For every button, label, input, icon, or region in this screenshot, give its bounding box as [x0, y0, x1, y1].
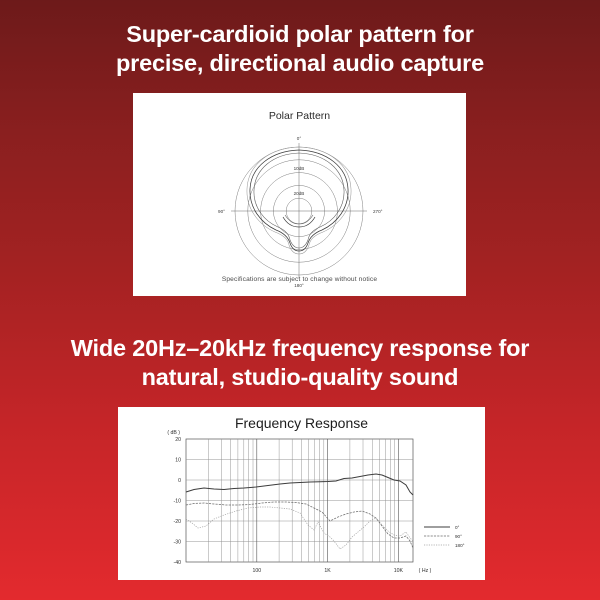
freq-legend-label-90deg: 90° [455, 534, 462, 539]
freq-chart-title: Frequency Response [118, 415, 485, 431]
headline-frequency-response: Wide 20Hz–20kHz frequency response for n… [0, 334, 600, 391]
polar-ring-label-20db: 20dB [294, 191, 305, 196]
frequency-response-chart-card: Frequency Response [118, 407, 485, 580]
freq-curve-180deg [186, 507, 413, 549]
headline-freq-line2: natural, studio-quality sound [42, 363, 558, 392]
freq-xlabel: ( Hz ) [419, 568, 432, 574]
freq-legend: 0° 90° 180° [424, 525, 465, 548]
polar-pattern-plot: 0° 90° 180° 270° 10dB 20dB 1kHz 250Hz 4k… [133, 93, 466, 296]
freq-ytick-10: 10 [175, 458, 181, 464]
freq-ytick-20: 20 [175, 437, 181, 443]
polar-angle-label-180: 180° [294, 283, 304, 288]
headline-polar-line1: Super-cardioid polar pattern for [42, 20, 558, 49]
freq-grid-horizontal [186, 460, 413, 542]
freq-ytick-m20: -20 [174, 519, 182, 525]
freq-xtick-1k: 1K [324, 568, 331, 574]
freq-ytick-m30: -30 [174, 540, 182, 546]
headline-polar-line2: precise, directional audio capture [42, 49, 558, 78]
polar-grid-axes [231, 143, 367, 279]
freq-legend-label-0deg: 0° [455, 525, 460, 530]
headline-polar-pattern: Super-cardioid polar pattern for precise… [0, 20, 600, 77]
freq-xtick-100: 100 [252, 568, 261, 574]
polar-chart-title: Polar Pattern [133, 110, 466, 122]
polar-pattern-chart-card: Polar Pattern 0° 90° 180° 270° 10dB 20dB [133, 93, 466, 296]
polar-angle-label-0: 0° [297, 136, 302, 141]
freq-ytick-0: 0 [178, 478, 181, 484]
freq-curve-90deg [186, 502, 413, 548]
freq-legend-label-180deg: 180° [455, 543, 465, 548]
polar-angle-label-270: 270° [373, 209, 383, 214]
freq-ytick-m10: -10 [174, 499, 182, 505]
polar-ring-label-10db: 10dB [294, 166, 305, 171]
frequency-response-plot: ( dB ) 20 10 0 -10 -20 -30 -40 100 1K 10… [118, 407, 485, 580]
polar-chart-footnote: Specifications are subject to change wit… [133, 276, 466, 283]
freq-xtick-10k: 10K [394, 568, 404, 574]
freq-curve-0deg [186, 474, 413, 495]
freq-ytick-m40: -40 [174, 560, 182, 566]
polar-angle-label-90: 90° [218, 209, 225, 214]
headline-freq-line1: Wide 20Hz–20kHz frequency response for [42, 334, 558, 363]
